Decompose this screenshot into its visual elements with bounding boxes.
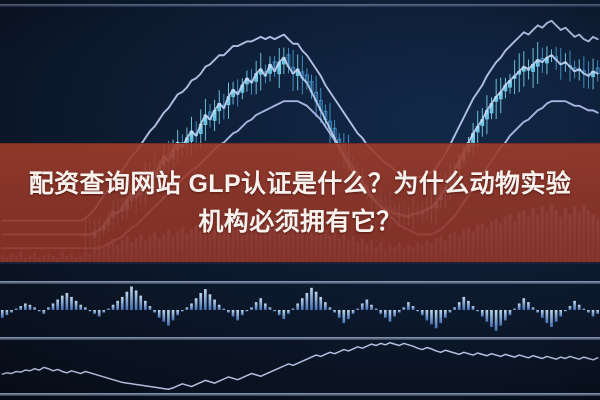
headline-band: 配资查询网站 GLP认证是什么？为什么动物实验 机构必须拥有它？ xyxy=(0,143,600,263)
band-edge-top xyxy=(0,143,600,144)
chart-banner: 配资查询网站 GLP认证是什么？为什么动物实验 机构必须拥有它？ xyxy=(0,0,600,400)
oscillator-line xyxy=(2,343,597,390)
macd-histogram xyxy=(1,287,599,331)
panel-separator-3 xyxy=(0,393,600,396)
panel-separator-1 xyxy=(0,281,600,284)
band-edge-bottom xyxy=(0,262,600,264)
headline-line-2: 机构必须拥有它？ xyxy=(198,203,401,241)
panel-separator-2 xyxy=(0,337,600,340)
headline-line-1: 配资查询网站 GLP认证是什么？为什么动物实验 xyxy=(29,165,572,203)
